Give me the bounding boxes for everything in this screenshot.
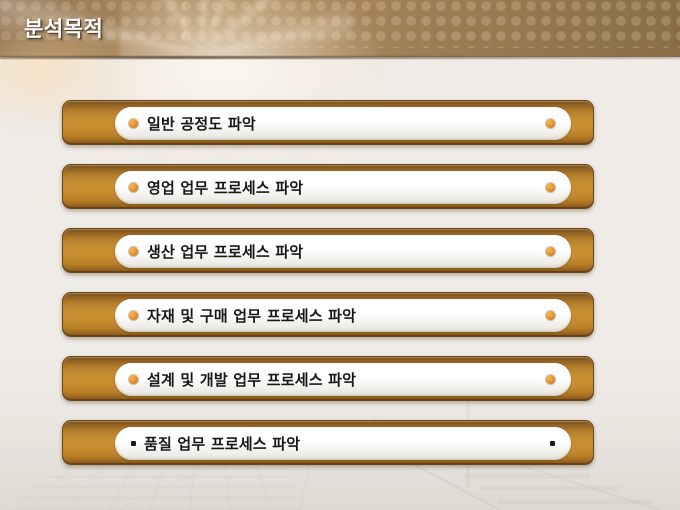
list-item-label-3: 생산 업무 프로세스 파악 — [147, 241, 536, 262]
list-item-bar-4[interactable]: 자재 및 구매 업무 프로세스 파악 — [62, 292, 594, 337]
circle-bullet-icon — [129, 375, 138, 384]
list-item-label-6: 품질 업무 프로세스 파악 — [144, 433, 540, 454]
list-item-bar-6[interactable]: 품질 업무 프로세스 파악 — [62, 420, 594, 465]
circle-bullet-icon — [546, 247, 555, 256]
list-item-bar-2[interactable]: 영업 업무 프로세스 파악 — [62, 164, 594, 209]
list-item-label-5: 설계 및 개발 업무 프로세스 파악 — [147, 369, 536, 390]
list-item-label-1: 일반 공정도 파악 — [147, 113, 536, 134]
list-item-pill-4[interactable]: 자재 및 구매 업무 프로세스 파악 — [115, 299, 571, 332]
bullet-bar-list: 일반 공정도 파악 영업 업무 프로세스 파악 생산 업무 프로세스 파악 자재… — [0, 0, 680, 510]
list-item-pill-2[interactable]: 영업 업무 프로세스 파악 — [115, 171, 571, 204]
list-item-pill-6[interactable]: 품질 업무 프로세스 파악 — [115, 427, 571, 460]
circle-bullet-icon — [546, 183, 555, 192]
list-item-bar-3[interactable]: 생산 업무 프로세스 파악 — [62, 228, 594, 273]
circle-bullet-icon — [129, 311, 138, 320]
circle-bullet-icon — [129, 247, 138, 256]
list-item-pill-1[interactable]: 일반 공정도 파악 — [115, 107, 571, 140]
circle-bullet-icon — [129, 119, 138, 128]
list-item-label-4: 자재 및 구매 업무 프로세스 파악 — [147, 305, 536, 326]
list-item-bar-1[interactable]: 일반 공정도 파악 — [62, 100, 594, 145]
circle-bullet-icon — [546, 311, 555, 320]
list-item-pill-5[interactable]: 설계 및 개발 업무 프로세스 파악 — [115, 363, 571, 396]
square-bullet-icon — [131, 441, 136, 446]
list-item-pill-3[interactable]: 생산 업무 프로세스 파악 — [115, 235, 571, 268]
list-item-bar-5[interactable]: 설계 및 개발 업무 프로세스 파악 — [62, 356, 594, 401]
circle-bullet-icon — [546, 375, 555, 384]
slide-canvas: 분석목적 일반 공정도 파악 영업 업무 프로세스 파악 생산 업무 프로세스 … — [0, 0, 680, 510]
circle-bullet-icon — [129, 183, 138, 192]
square-bullet-icon — [550, 441, 555, 446]
circle-bullet-icon — [546, 119, 555, 128]
list-item-label-2: 영업 업무 프로세스 파악 — [147, 177, 536, 198]
